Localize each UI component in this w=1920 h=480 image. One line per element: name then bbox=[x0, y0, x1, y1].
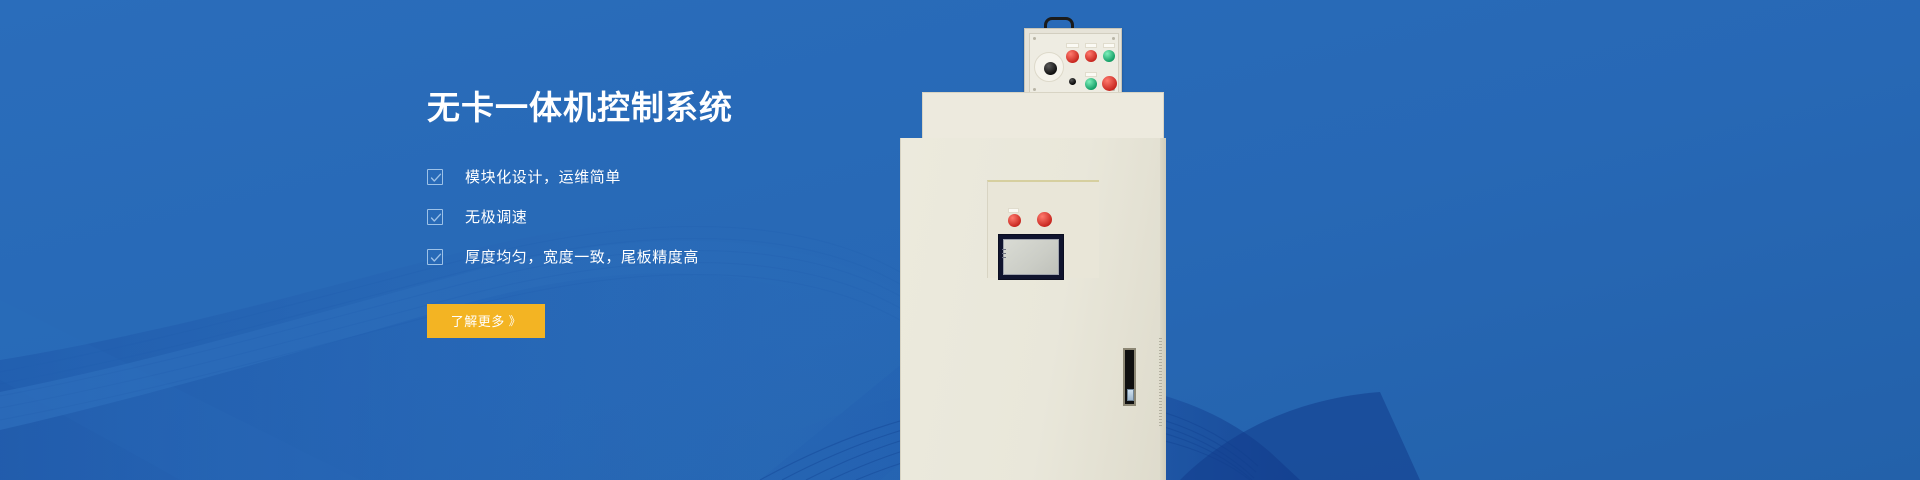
chevron-double-right-icon: 》 bbox=[509, 312, 522, 329]
lock-icon bbox=[1127, 389, 1134, 401]
check-square-icon bbox=[427, 209, 443, 225]
knob-cap bbox=[1044, 62, 1057, 75]
hero-banner: 无卡一体机控制系统 模块化设计，运维简单 无极调速 bbox=[0, 0, 1920, 480]
start-button[interactable] bbox=[1103, 50, 1115, 62]
feature-label: 模块化设计，运维简单 bbox=[465, 166, 621, 187]
button-label-tag bbox=[1085, 72, 1097, 77]
feature-list-item-3: 厚度均匀，宽度一致，尾板精度高 bbox=[427, 246, 1067, 268]
learn-more-label: 了解更多 bbox=[451, 311, 505, 330]
power-off-button[interactable] bbox=[1102, 76, 1117, 91]
vent-slots bbox=[1159, 338, 1162, 458]
check-square-icon bbox=[427, 169, 443, 185]
run-button[interactable] bbox=[1085, 78, 1097, 90]
feature-label: 无极调速 bbox=[465, 206, 527, 227]
control-head-face bbox=[1029, 33, 1119, 95]
emergency-stop-button[interactable] bbox=[1066, 50, 1079, 63]
feature-list: 模块化设计，运维简单 无极调速 厚度均匀，宽度一致，尾板精度高 bbox=[427, 166, 1067, 268]
door-handle-lock[interactable] bbox=[1123, 348, 1136, 406]
screw-icon bbox=[1112, 37, 1115, 40]
learn-more-button[interactable]: 了解更多 》 bbox=[427, 304, 545, 338]
banner-content: 无卡一体机控制系统 模块化设计，运维简单 无极调速 bbox=[427, 88, 1067, 338]
feature-label: 厚度均匀，宽度一致，尾板精度高 bbox=[465, 246, 699, 267]
feature-list-item-2: 无极调速 bbox=[427, 206, 1067, 228]
button-label-tag bbox=[1103, 43, 1115, 48]
indicator-small-button[interactable] bbox=[1069, 78, 1076, 85]
feature-list-item-1: 模块化设计，运维简单 bbox=[427, 166, 1067, 188]
stop-button[interactable] bbox=[1085, 50, 1097, 62]
screw-icon bbox=[1033, 37, 1036, 40]
button-label-tag bbox=[1066, 43, 1079, 48]
check-square-icon bbox=[427, 249, 443, 265]
button-label-tag bbox=[1085, 43, 1097, 48]
rotary-selector-knob-icon[interactable] bbox=[1034, 52, 1064, 82]
page-title: 无卡一体机控制系统 bbox=[427, 88, 1067, 128]
